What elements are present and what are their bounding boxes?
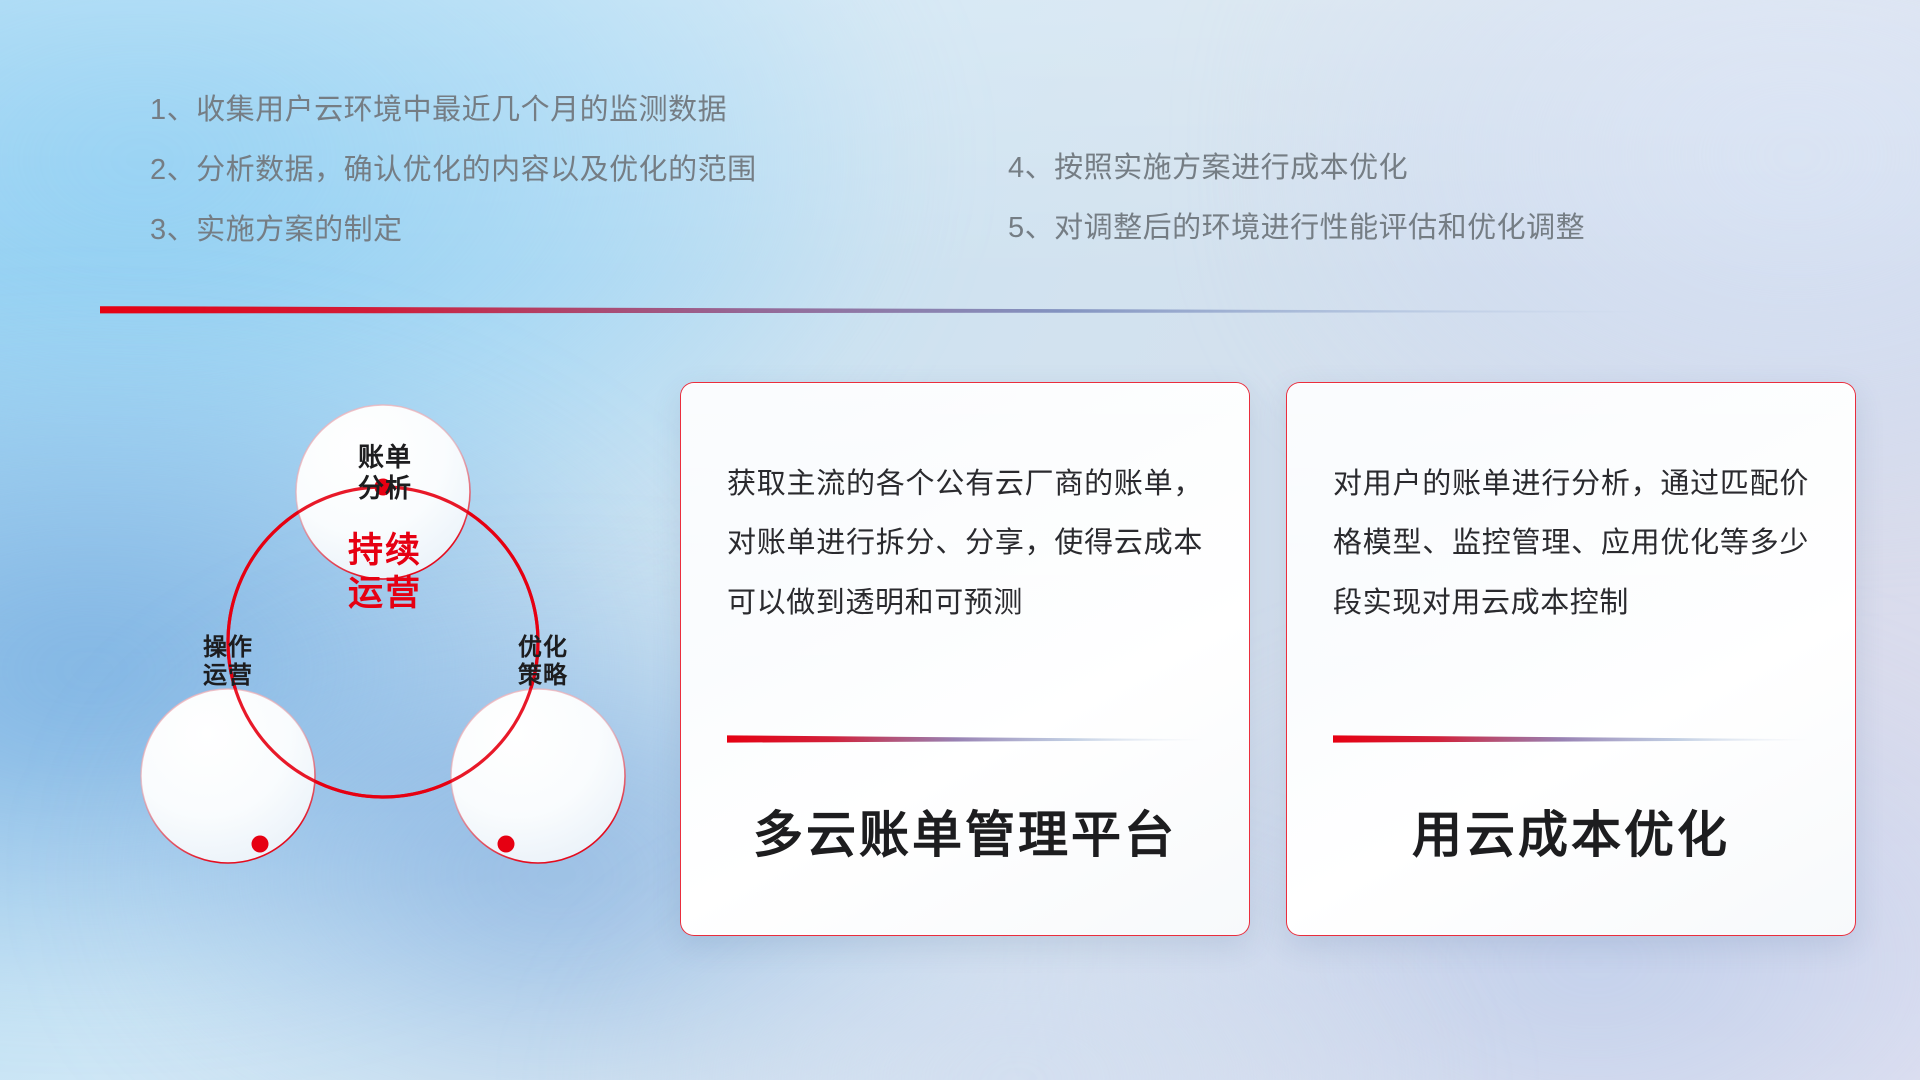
feature-card-multi-cloud-billing-platform[interactable]: 获取主流的各个公有云厂商的账单，对账单进行拆分、分享，使得云成本可以做到透明和可…	[680, 382, 1250, 936]
step-item-1: 1、收集用户云环境中最近几个月的监测数据	[150, 96, 757, 125]
step-item-4: 4、按照实施方案进行成本优化	[1008, 154, 1585, 183]
card-accent-rule	[1333, 733, 1811, 745]
card-description: 对用户的账单进行分析，通过匹配价格模型、监控管理、应用优化等多少段实现对用云成本…	[1287, 383, 1855, 683]
step-item-2: 2、分析数据，确认优化的内容以及优化的范围	[150, 156, 757, 185]
card-title: 多云账单管理平台	[681, 795, 1249, 867]
card-title: 用云成本优化	[1287, 795, 1855, 867]
diagram-node-label-operations: 操作 运营	[138, 634, 318, 691]
step-item-5: 5、对调整后的环境进行性能评估和优化调整	[1008, 214, 1585, 243]
node-circle-optimization	[451, 689, 625, 863]
feature-card-cloud-cost-optimization[interactable]: 对用户的账单进行分析，通过匹配价格模型、监控管理、应用优化等多少段实现对用云成本…	[1286, 382, 1856, 936]
step-item-3: 3、实施方案的制定	[150, 216, 757, 245]
card-description: 获取主流的各个公有云厂商的账单，对账单进行拆分、分享，使得云成本可以做到透明和可…	[681, 383, 1249, 683]
steps-list-left: 1、收集用户云环境中最近几个月的监测数据 2、分析数据，确认优化的内容以及优化的…	[150, 96, 757, 276]
diagram-center-label: 持续 运营	[285, 530, 485, 615]
continuous-operation-diagram: 持续 运营 账单 分析 操作 运营 优化 策略	[95, 352, 655, 952]
diagram-node-label-optimization: 优化 策略	[453, 634, 633, 691]
node-circle-operations	[141, 689, 315, 863]
card-accent-rule	[727, 733, 1205, 745]
diagram-node-label-billing-analysis: 账单 分析	[295, 442, 475, 503]
steps-list-right: 4、按照实施方案进行成本优化 5、对调整后的环境进行性能评估和优化调整	[1008, 154, 1585, 274]
section-divider	[100, 300, 1648, 320]
